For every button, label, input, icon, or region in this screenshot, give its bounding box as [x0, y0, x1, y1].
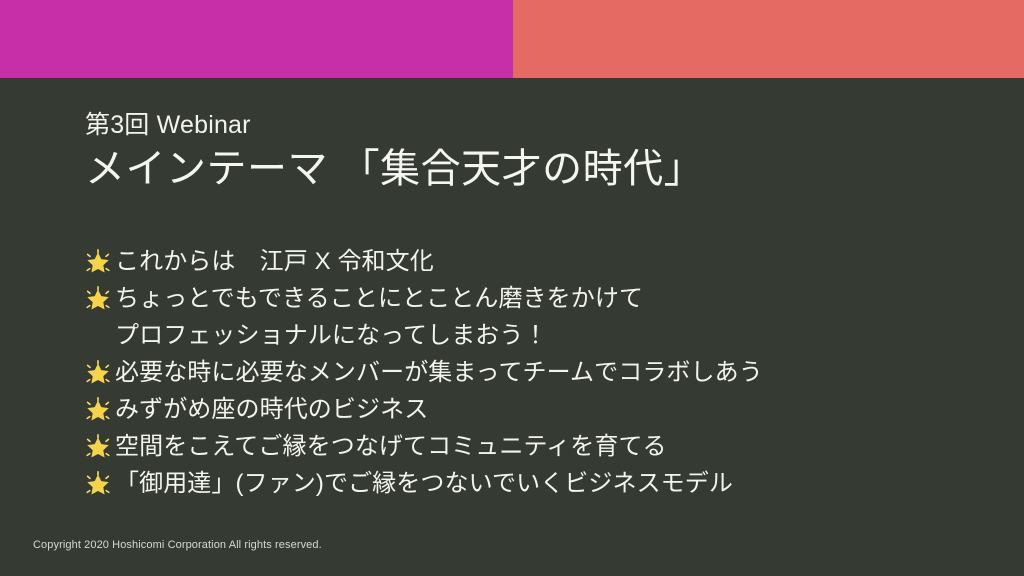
list-item: みずがめ座の時代のビジネス — [84, 393, 984, 427]
glowing-star-icon — [84, 393, 114, 427]
copyright-footer: Copyright 2020 Hoshicomi Corporation All… — [33, 538, 322, 552]
list-item-label: これからは 江戸 X 令和文化 — [115, 245, 434, 279]
list-item-label: 必要な時に必要なメンバーが集まってチームでコラボしあう — [115, 356, 763, 390]
list-item: これからは 江戸 X 令和文化 — [84, 245, 984, 279]
list-item: 空間をこえてご縁をつなげてコミュニティを育てる — [84, 430, 984, 464]
slide-canvas: 第3回 Webinar メインテーマ 「集合天才の時代」 これからは 江戸 X … — [0, 0, 1024, 576]
salmon-band — [513, 0, 1024, 78]
glowing-star-icon — [84, 430, 114, 464]
glowing-star-icon — [84, 356, 114, 390]
eyebrow-text: 第3回 Webinar — [85, 110, 704, 141]
glowing-star-icon — [84, 467, 114, 501]
header-color-bands — [0, 0, 1024, 78]
list-item-continuation: プロフェッショナルになってしまおう！ — [84, 319, 984, 353]
glowing-star-icon — [84, 245, 114, 279]
list-item: 必要な時に必要なメンバーが集まってチームでコラボしあう — [84, 356, 984, 390]
list-item-label: 空間をこえてご縁をつなげてコミュニティを育てる — [115, 430, 667, 464]
list-item-label: みずがめ座の時代のビジネス — [115, 393, 428, 427]
list-item-label: ちょっとでもできることにとことん磨きをかけて — [115, 282, 643, 316]
list-item: ちょっとでもできることにとことん磨きをかけて — [84, 282, 984, 316]
magenta-band — [0, 0, 513, 78]
glowing-star-icon — [84, 282, 114, 316]
list-item-label: 「御用達」(ファン)でご縁をつないでいくビジネスモデル — [115, 467, 733, 501]
list-item: 「御用達」(ファン)でご縁をつないでいくビジネスモデル — [84, 467, 984, 501]
heading-block: 第3回 Webinar メインテーマ 「集合天才の時代」 — [85, 110, 704, 195]
page-title: メインテーマ 「集合天才の時代」 — [85, 143, 704, 195]
bullet-list: これからは 江戸 X 令和文化 ちょっとでもできることにとことん磨きをかけて プ… — [84, 245, 984, 504]
